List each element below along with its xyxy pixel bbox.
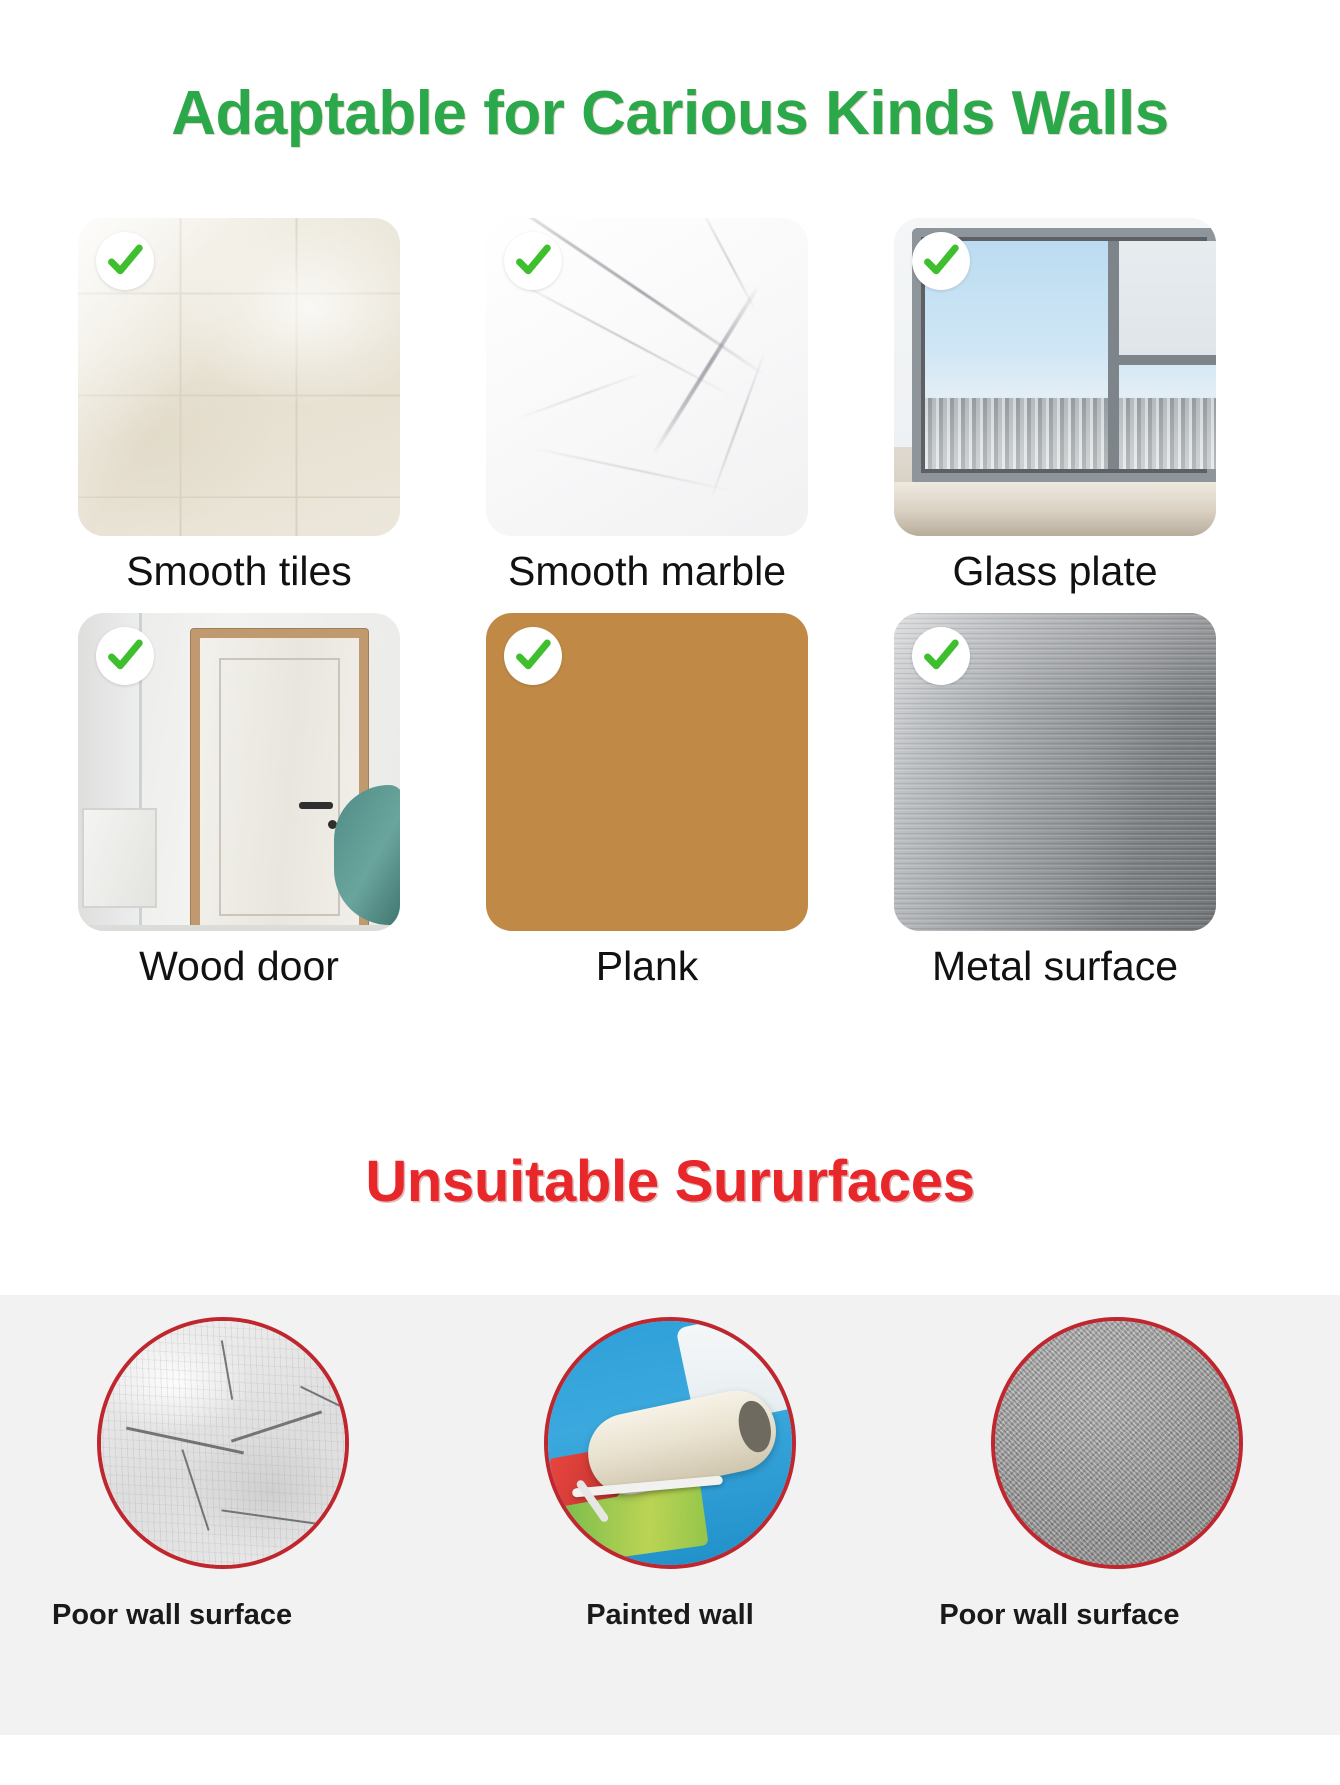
- surface-label: Wood door: [78, 945, 400, 988]
- surface-label: Smooth marble: [486, 550, 808, 593]
- unsuitable-section-title: Unsuitable Sururfaces: [0, 1148, 1340, 1215]
- surface-label: Metal surface: [894, 945, 1216, 988]
- surface-card-metal-surface: Metal surface: [894, 613, 1216, 988]
- suitable-surface-grid: Smooth tiles Smooth marble: [78, 218, 1268, 988]
- surface-image-smooth-marble: [486, 218, 808, 536]
- surface-label: Smooth tiles: [78, 550, 400, 593]
- cracked-wall-texture: [101, 1321, 345, 1565]
- surface-card-glass-plate: Glass plate: [894, 218, 1216, 593]
- paint-roller-texture: [548, 1321, 792, 1565]
- surface-image-metal-surface: [894, 613, 1216, 931]
- check-icon: [96, 627, 154, 685]
- surface-card-wood-door: Wood door: [78, 613, 400, 988]
- unsuitable-card-painted-wall: Painted wall: [447, 1295, 894, 1735]
- unsuitable-surface-panel: Poor wall surface Painted wall: [0, 1295, 1340, 1735]
- surface-card-smooth-marble: Smooth marble: [486, 218, 808, 593]
- surface-card-smooth-tiles: Smooth tiles: [78, 218, 400, 593]
- surface-image-smooth-tiles: [78, 218, 400, 536]
- unsuitable-surface-row: Poor wall surface Painted wall: [0, 1295, 1340, 1735]
- unsuitable-card-poor-wall-surface-2: Poor wall surface: [893, 1295, 1340, 1735]
- unsuitable-label: Poor wall surface: [939, 1599, 1179, 1632]
- unsuitable-image-paint-roller: [544, 1317, 796, 1569]
- surface-label: Plank: [486, 945, 808, 988]
- check-icon: [96, 232, 154, 290]
- surface-card-plank: Plank: [486, 613, 808, 988]
- check-icon: [912, 627, 970, 685]
- unsuitable-card-poor-wall-surface-1: Poor wall surface: [0, 1295, 447, 1735]
- surface-label: Glass plate: [894, 550, 1216, 593]
- suitable-section-title: Adaptable for Carious Kinds Walls: [0, 78, 1340, 149]
- surface-image-glass-plate: [894, 218, 1216, 536]
- surface-image-plank: [486, 613, 808, 931]
- check-icon: [504, 627, 562, 685]
- surface-image-wood-door: [78, 613, 400, 931]
- check-icon: [912, 232, 970, 290]
- unsuitable-label: Poor wall surface: [52, 1599, 292, 1632]
- unsuitable-image-rough-concrete: [991, 1317, 1243, 1569]
- unsuitable-label: Painted wall: [586, 1599, 754, 1632]
- rough-concrete-texture: [995, 1321, 1239, 1565]
- infographic-page: Adaptable for Carious Kinds Walls Smooth…: [0, 0, 1340, 1785]
- unsuitable-image-cracked-wall: [97, 1317, 349, 1569]
- check-icon: [504, 232, 562, 290]
